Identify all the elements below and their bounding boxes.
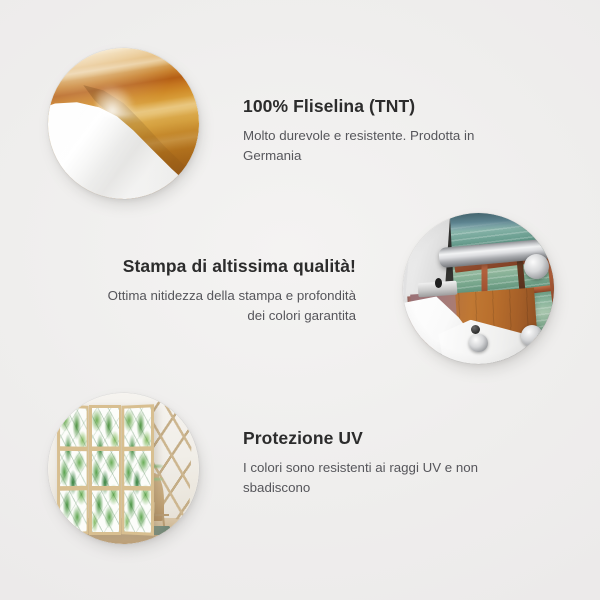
- divider-panel-1: [57, 404, 88, 536]
- leaf-veins-3: [124, 407, 151, 532]
- tropical-room-divider-image: [48, 393, 199, 544]
- feature-heading-uv: Protezione UV: [243, 428, 513, 449]
- room-image-inner: [48, 393, 199, 544]
- wallpaper-image-inner: [48, 48, 199, 199]
- feature-body-fliselina: Molto durevole e resistente. Prodotta in…: [243, 126, 503, 166]
- leaf-pattern-1: [60, 407, 86, 532]
- leaf-pattern-3: [124, 407, 151, 532]
- wallpaper-roll-peeling-image: [48, 48, 199, 199]
- printing-press-image: [403, 213, 554, 364]
- feature-text-fliselina: 100% Fliselina (TNT) Molto durevole e re…: [243, 96, 503, 166]
- feature-heading-fliselina: 100% Fliselina (TNT): [243, 96, 503, 117]
- feature-body-stampa: Ottima nitidezza della stampa e profondi…: [96, 286, 356, 326]
- press-vignette: [403, 213, 554, 364]
- divider-panel-2: [89, 405, 121, 535]
- leaf-pattern-2: [92, 408, 119, 532]
- peel-apex-highlight: [96, 84, 135, 117]
- feature-board: 100% Fliselina (TNT) Molto durevole e re…: [0, 0, 600, 600]
- leaf-veins-2: [92, 408, 119, 532]
- feature-text-stampa: Stampa di altissima qualità! Ottima niti…: [96, 256, 356, 326]
- divider-panel-3: [121, 404, 153, 535]
- feature-body-uv: I colori sono resistenti ai raggi UV e n…: [243, 458, 513, 498]
- feature-heading-stampa: Stampa di altissima qualità!: [96, 256, 356, 277]
- press-image-inner: [403, 213, 554, 364]
- folding-room-divider: [57, 405, 154, 535]
- leaf-veins-1: [60, 407, 86, 532]
- feature-text-uv: Protezione UV I colori sono resistenti a…: [243, 428, 513, 498]
